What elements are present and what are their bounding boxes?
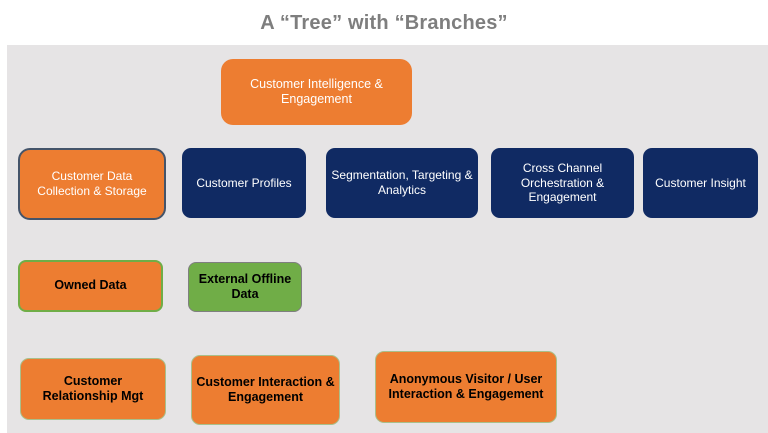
node-cross-channel-orchestration-engagement[interactable]: Cross Channel Orchestration & Engagement: [491, 148, 634, 218]
node-label: Cross Channel Orchestration & Engagement: [495, 161, 630, 205]
node-label: Customer Profiles: [186, 176, 302, 191]
node-label: Customer Data Collection & Storage: [24, 169, 160, 198]
diagram-panel: Customer Intelligence & Engagement Custo…: [7, 45, 768, 433]
node-label: Customer Interaction & Engagement: [196, 375, 335, 406]
node-label: Owned Data: [24, 278, 157, 293]
node-segmentation-targeting-analytics[interactable]: Segmentation, Targeting & Analytics: [326, 148, 478, 218]
node-label: Customer Intelligence & Engagement: [225, 77, 408, 108]
node-customer-data-collection-storage[interactable]: Customer Data Collection & Storage: [18, 148, 166, 220]
node-customer-interaction-engagement[interactable]: Customer Interaction & Engagement: [191, 355, 340, 425]
node-customer-profiles[interactable]: Customer Profiles: [182, 148, 306, 218]
node-label: External Offline Data: [193, 272, 297, 303]
node-label: Customer Insight: [647, 176, 754, 191]
node-anonymous-visitor-user-interaction-engagement[interactable]: Anonymous Visitor / User Interaction & E…: [375, 351, 557, 423]
node-external-offline-data[interactable]: External Offline Data: [188, 262, 302, 312]
node-customer-relationship-mgt[interactable]: Customer Relationship Mgt: [20, 358, 166, 420]
node-customer-insight[interactable]: Customer Insight: [643, 148, 758, 218]
node-label: Customer Relationship Mgt: [25, 374, 161, 405]
page-title: A “Tree” with “Branches”: [0, 12, 768, 35]
node-owned-data[interactable]: Owned Data: [18, 260, 163, 312]
node-customer-intelligence-engagement[interactable]: Customer Intelligence & Engagement: [221, 59, 412, 125]
node-label: Anonymous Visitor / User Interaction & E…: [380, 372, 552, 403]
node-label: Segmentation, Targeting & Analytics: [330, 168, 474, 197]
slide-canvas: A “Tree” with “Branches” Customer Intell…: [0, 0, 768, 433]
